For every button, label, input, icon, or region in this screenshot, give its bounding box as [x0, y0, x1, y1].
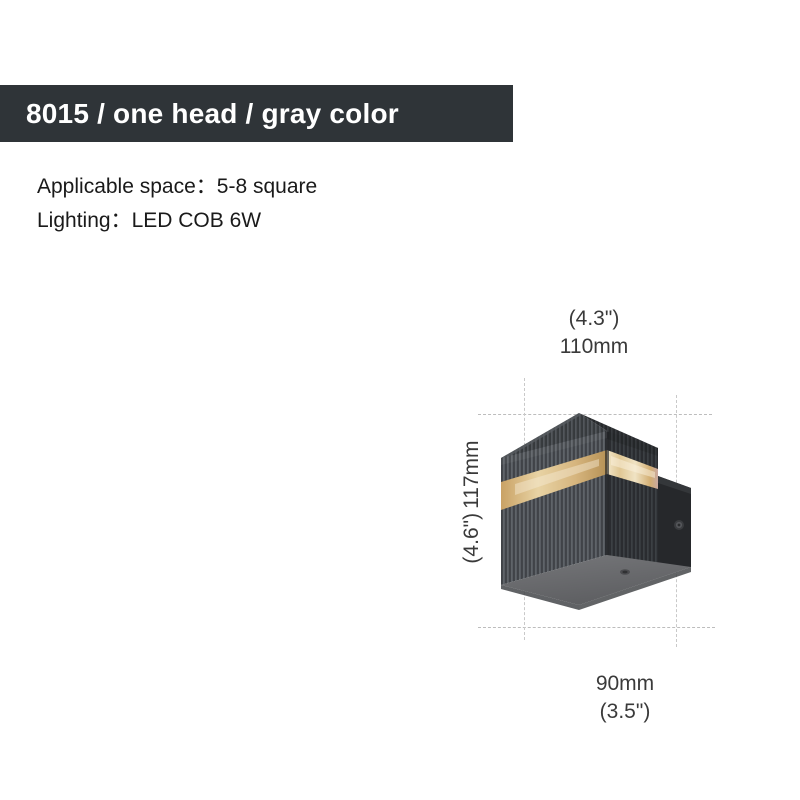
- spec-value-applicable-space: 5-8 square: [217, 175, 317, 198]
- dimension-label-width-inch: (4.3"): [534, 307, 654, 331]
- product-title-text: 8015 / one head / gray color: [26, 98, 399, 130]
- product-title-bar: 8015 / one head / gray color: [0, 85, 513, 142]
- dimension-label-height: (4.6") 117mm: [457, 422, 487, 582]
- spec-value-lighting: LED COB 6W: [132, 209, 262, 232]
- spec-label-applicable-space: Applicable space：: [37, 175, 217, 198]
- product-image-wall-sconce: [495, 400, 720, 640]
- dimension-diagram: (4.3") 110mm 90mm (3.5") (4.6") 117mm: [400, 295, 760, 755]
- spec-label-lighting: Lighting：: [37, 209, 132, 232]
- dimension-label-width-mm: 110mm: [534, 335, 654, 359]
- specification-list: Applicable space：5-8 square Lighting：LED…: [37, 170, 497, 238]
- dimension-label-depth-mm: 90mm: [565, 672, 685, 696]
- dimension-label-depth-inch: (3.5"): [565, 700, 685, 724]
- dimension-label-height-mm: 117mm: [460, 440, 484, 508]
- dimension-label-height-inch: (4.6"): [460, 513, 484, 564]
- spec-row-applicable-space: Applicable space：5-8 square: [37, 170, 497, 204]
- spec-row-lighting: Lighting：LED COB 6W: [37, 204, 497, 238]
